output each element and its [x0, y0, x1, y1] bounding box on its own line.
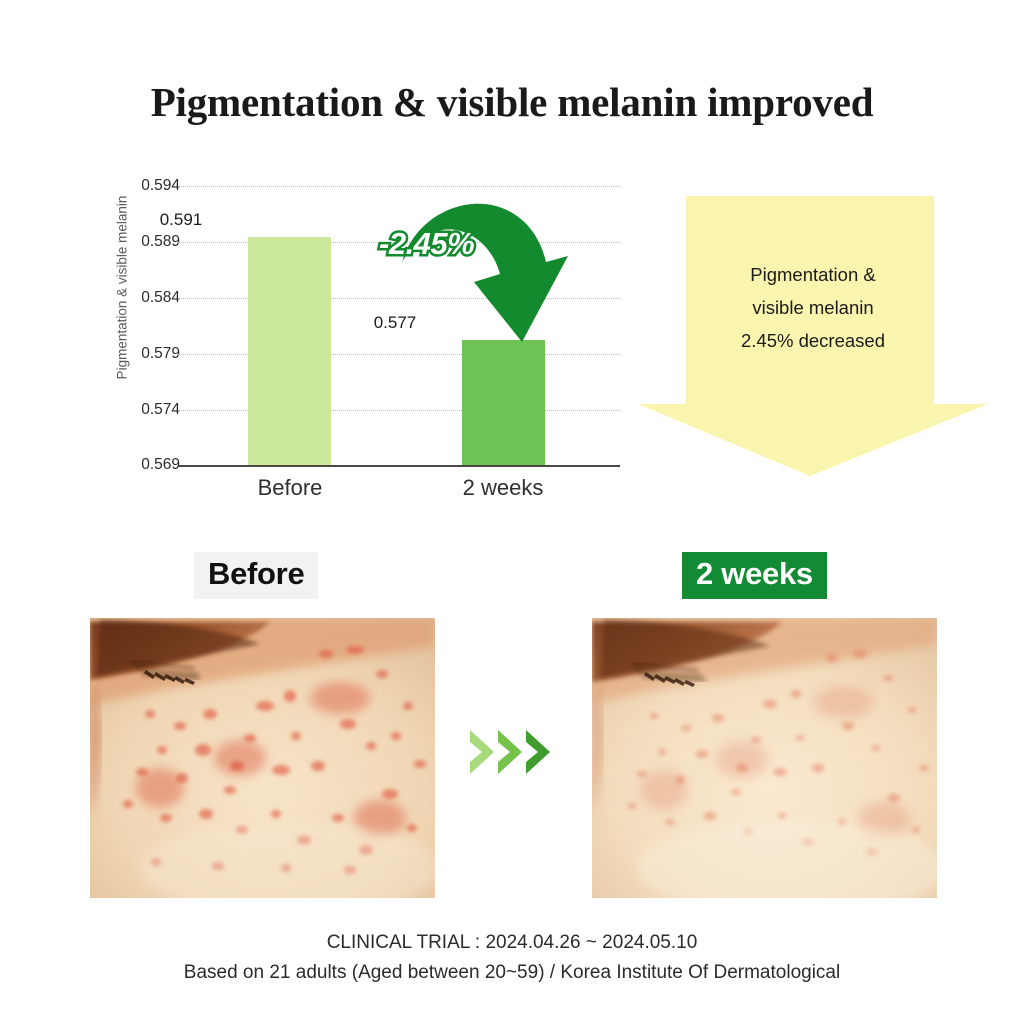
- bar-before: [248, 237, 331, 465]
- chart-x-axis-line: [178, 465, 620, 467]
- x-axis-tick-labels: Before 2 weeks: [178, 475, 620, 515]
- callout-line-2: visible melanin: [638, 291, 988, 324]
- after-skin-photo: [592, 618, 937, 898]
- before-photo-label: Before: [194, 552, 318, 599]
- bar-2-weeks: [462, 340, 545, 465]
- footer-line-2: Based on 21 adults (Aged between 20~59) …: [0, 958, 1024, 988]
- triple-chevron-right-icon: [468, 722, 558, 782]
- x-tick-label-2-weeks: 2 weeks: [423, 475, 583, 501]
- bar-chart: Pigmentation & visible melanin 0.594 0.5…: [70, 180, 630, 510]
- y-tick-label: 0.594: [141, 177, 180, 195]
- before-skin-photo: [90, 618, 435, 898]
- bar-value-2-weeks: 0.577: [335, 313, 455, 333]
- x-tick-label-before: Before: [210, 475, 370, 501]
- y-tick-label: 0.589: [141, 233, 180, 251]
- summary-callout-text: Pigmentation & visible melanin 2.45% dec…: [638, 258, 988, 357]
- page-title: Pigmentation & visible melanin improved: [0, 78, 1024, 126]
- summary-callout: Pigmentation & visible melanin 2.45% dec…: [638, 196, 988, 476]
- footer: CLINICAL TRIAL : 2024.04.26 ~ 2024.05.10…: [0, 928, 1024, 988]
- y-tick-label: 0.584: [141, 289, 180, 307]
- y-tick-label: 0.574: [141, 401, 180, 419]
- callout-line-3: 2.45% decreased: [638, 324, 988, 357]
- callout-line-1: Pigmentation &: [638, 258, 988, 291]
- y-tick-label: 0.569: [141, 456, 180, 474]
- footer-line-1: CLINICAL TRIAL : 2024.04.26 ~ 2024.05.10: [0, 928, 1024, 958]
- y-tick-label: 0.579: [141, 345, 180, 363]
- after-photo-label: 2 weeks: [682, 552, 827, 599]
- decrease-percent-label: -2.45%: [379, 226, 474, 262]
- bar-value-before: 0.591: [121, 210, 241, 230]
